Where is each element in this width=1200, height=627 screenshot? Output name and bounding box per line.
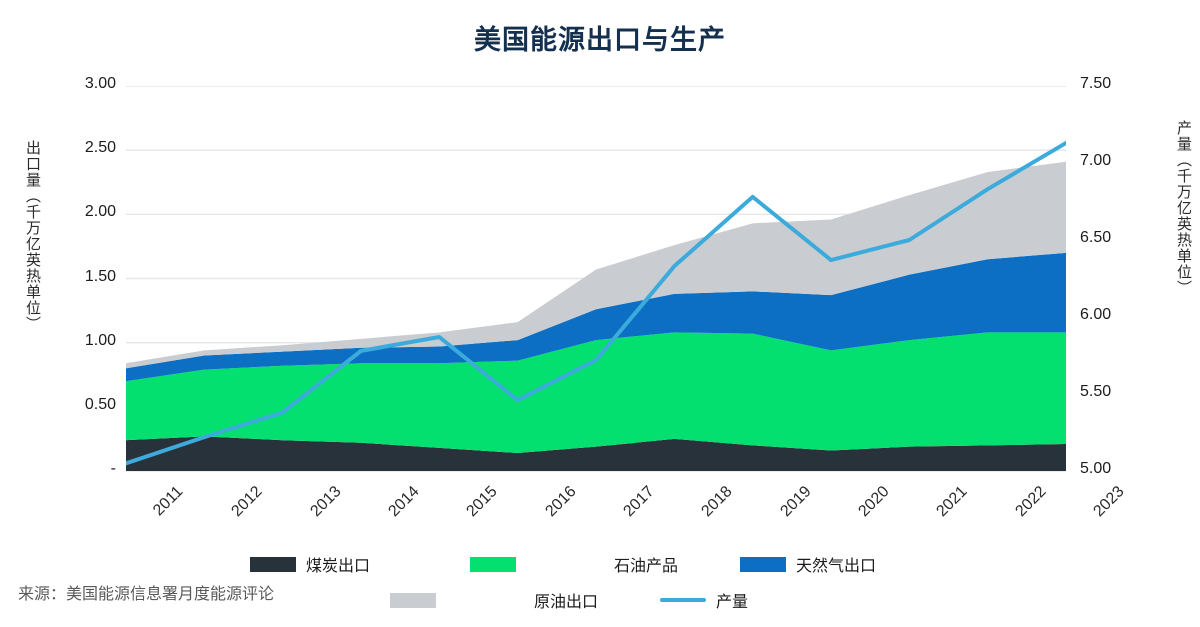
y-axis-right-tick: 7.50 [1080,75,1140,93]
y-axis-right-tick: 5.00 [1080,460,1140,478]
y-axis-right-title: 产量（千万亿英热单位） [1173,120,1194,296]
legend-item[interactable]: 原油出口 [390,588,598,612]
legend-label: 煤炭出口 [306,552,370,576]
x-axis-tick: 2012 [229,483,267,521]
y-axis-left-tick: 0.50 [58,396,116,414]
y-axis-left-tick: 2.00 [58,203,116,221]
legend-label: 石油产品 [614,552,678,576]
y-axis-left-tick: 1.00 [58,332,116,350]
x-axis-tick: 2019 [777,483,815,521]
x-axis-tick: 2011 [150,483,187,520]
x-axis-tick: 2017 [620,483,658,521]
y-axis-right-tick: 5.50 [1080,383,1140,401]
page-title: 美国能源出口与生产 [0,18,1200,57]
x-axis-tick: 2013 [307,483,345,521]
legend-color-swatch [740,557,786,572]
legend-item[interactable]: 产量 [660,588,748,612]
x-axis-tick: 2023 [1090,483,1128,521]
x-axis-tick: 2016 [542,483,580,521]
x-axis-tick: 2014 [385,483,423,521]
y-axis-right-tick: 6.00 [1080,306,1140,324]
source-note: 来源：美国能源信息署月度能源评论 [18,580,274,604]
legend-line-swatch [660,598,706,602]
legend-item[interactable]: 煤炭出口 [250,552,370,576]
chart-svg [126,86,1066,477]
x-axis-tick: 2018 [699,483,737,521]
legend-label: 原油出口 [534,588,598,612]
legend-label: 产量 [716,588,748,612]
y-axis-right-tick: 7.00 [1080,152,1140,170]
legend-color-swatch [470,557,516,572]
chart-root: 美国能源出口与生产 出口量（千万亿英热单位） 产量（千万亿英热单位） 3.002… [0,0,1200,627]
x-axis-tick: 2015 [464,483,502,521]
y-axis-right-tick: 6.50 [1080,229,1140,247]
plot-area [126,86,1066,471]
legend-label: 天然气出口 [796,552,876,576]
y-axis-left-title: 出口量（千万亿英热单位） [22,140,43,332]
y-axis-left-tick: 2.50 [58,139,116,157]
legend-color-swatch [250,557,296,572]
y-axis-left-tick: - [58,460,116,478]
x-axis-tick: 2022 [1012,483,1050,521]
x-axis-tick: 2020 [855,483,893,521]
y-axis-left-tick: 3.00 [58,75,116,93]
x-axis-tick: 2021 [934,483,972,521]
legend-item[interactable]: 天然气出口 [740,552,876,576]
legend-item[interactable]: 石油产品 [470,552,678,576]
y-axis-left-tick: 1.50 [58,268,116,286]
legend-color-swatch [390,593,436,608]
